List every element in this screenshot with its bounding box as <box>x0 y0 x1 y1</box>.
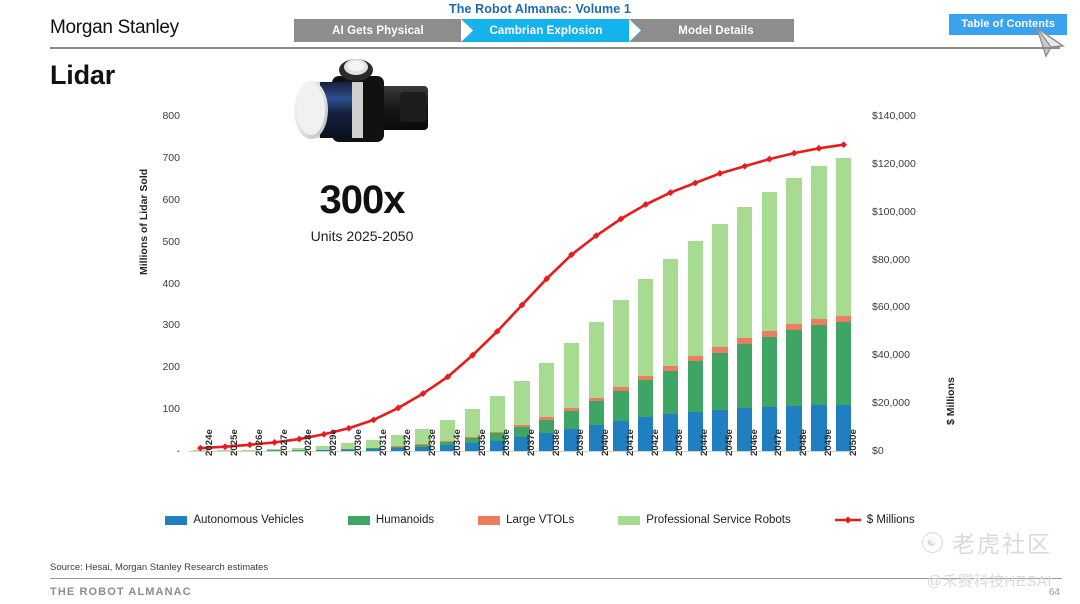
multiple-caption: Units 2025-2050 <box>272 228 452 244</box>
nav-chip-label: AI Gets Physical <box>332 25 424 37</box>
nav-chip-ai-gets-physical[interactable]: AI Gets Physical <box>294 19 462 42</box>
line-marker <box>246 441 253 448</box>
source-note: Source: Hesai, Morgan Stanley Research e… <box>50 562 268 573</box>
x-axis-tick: 2044e <box>699 429 710 456</box>
x-axis-tick: 2046e <box>749 429 760 456</box>
chart-legend: Autonomous VehiclesHumanoidsLarge VTOLsP… <box>0 514 1080 526</box>
x-axis-tick: 2026e <box>254 429 265 456</box>
line-marker <box>271 439 278 446</box>
line-marker <box>741 163 748 170</box>
x-axis-tick: 2027e <box>279 429 290 456</box>
nav-chip-label: Model Details <box>678 25 753 37</box>
line-marker <box>321 431 328 438</box>
line-marker <box>296 436 303 443</box>
y-axis-left-title: Millions of Lidar Sold <box>138 169 150 275</box>
x-axis-tick: 2049e <box>823 429 834 456</box>
legend-label: $ Millions <box>867 514 915 526</box>
y-axis-left-tick: 400 <box>134 278 180 290</box>
legend-label: Humanoids <box>376 514 434 526</box>
y-axis-left-tick: - <box>134 445 180 457</box>
legend-item[interactable]: Autonomous Vehicles <box>165 514 304 526</box>
x-axis-tick: 2029e <box>328 429 339 456</box>
x-axis-tick: 2037e <box>526 429 537 456</box>
pointer-cursor-icon <box>1033 24 1069 58</box>
x-axis-tick: 2032e <box>402 429 413 456</box>
multiple-value: 300x <box>272 180 452 220</box>
x-axis-tick: 2030e <box>353 429 364 456</box>
y-axis-right-tick: $0 <box>872 445 932 457</box>
x-axis-tick: 2048e <box>798 429 809 456</box>
growth-callout: 300x Units 2025-2050 <box>272 58 452 244</box>
footer-brand: THE ROBOT ALMANAC <box>50 586 192 598</box>
nav-chip-model-details[interactable]: Model Details <box>630 19 794 42</box>
x-axis-tick: 2025e <box>229 429 240 456</box>
y-axis-right-tick: $60,000 <box>872 301 932 313</box>
deck-title: The Robot Almanac: Volume 1 <box>0 2 1080 16</box>
footer-divider <box>50 578 1062 579</box>
y-axis-left-tick: 800 <box>134 110 180 122</box>
x-axis-tick: 2034e <box>452 429 463 456</box>
legend-swatch-icon <box>165 516 187 525</box>
line-marker <box>345 425 352 432</box>
line-marker <box>840 141 847 148</box>
x-axis-tick: 2033e <box>427 429 438 456</box>
y-axis-right-title: $ Millions <box>945 377 957 425</box>
line-marker <box>197 445 204 452</box>
y-axis-right-tick: $120,000 <box>872 158 932 170</box>
legend-item[interactable]: Large VTOLs <box>478 514 574 526</box>
x-axis-tick: 2050e <box>848 429 859 456</box>
y-axis-left-tick: 100 <box>134 403 180 415</box>
line-marker <box>692 180 699 187</box>
y-axis-left-tick: 200 <box>134 361 180 373</box>
legend-label: Autonomous Vehicles <box>193 514 304 526</box>
y-axis-right-tick: $100,000 <box>872 206 932 218</box>
legend-item[interactable]: Professional Service Robots <box>618 514 790 526</box>
x-axis-tick: 2035e <box>477 429 488 456</box>
x-axis-tick: 2038e <box>551 429 562 456</box>
y-axis-right-tick: $20,000 <box>872 397 932 409</box>
x-axis-tick: 2045e <box>724 429 735 456</box>
x-axis-tick: 2040e <box>600 429 611 456</box>
y-axis-left-tick: 300 <box>134 319 180 331</box>
x-axis-tick: 2031e <box>378 429 389 456</box>
x-axis-tick: 2039e <box>575 429 586 456</box>
line-marker <box>815 145 822 152</box>
legend-label: Professional Service Robots <box>646 514 790 526</box>
morgan-stanley-logo: Morgan Stanley <box>50 17 179 39</box>
y-axis-left-tick: 700 <box>134 152 180 164</box>
x-axis-tick: 2024e <box>204 429 215 456</box>
page-title: Lidar <box>50 60 115 91</box>
y-axis-right-tick: $140,000 <box>872 110 932 122</box>
y-axis-right-tick: $80,000 <box>872 254 932 266</box>
slide-root: The Robot Almanac: Volume 1 Morgan Stanl… <box>0 0 1080 604</box>
legend-item[interactable]: Humanoids <box>348 514 434 526</box>
legend-line-marker-icon <box>835 515 861 525</box>
x-axis-tick: 2041e <box>625 429 636 456</box>
x-axis-tick: 2043e <box>674 429 685 456</box>
line-marker <box>222 443 229 450</box>
watermark-primary: ☯ 老虎社区 <box>922 525 1052 559</box>
y-axis-left-tick: 500 <box>134 236 180 248</box>
lidar-stacked-bar-chart: Millions of Lidar Sold $ Millions -10020… <box>0 100 1080 500</box>
x-axis-tick: 2042e <box>650 429 661 456</box>
line-marker <box>717 170 724 177</box>
nav-chip-label: Cambrian Explosion <box>490 25 603 37</box>
x-axis-tick: 2036e <box>501 429 512 456</box>
legend-swatch-icon <box>348 516 370 525</box>
line-marker <box>766 156 773 163</box>
nav-chip-cambrian-explosion[interactable]: Cambrian Explosion <box>462 19 630 42</box>
watermark-ring-icon: ☯ <box>922 532 943 553</box>
y-axis-right-tick: $40,000 <box>872 349 932 361</box>
legend-item[interactable]: $ Millions <box>835 514 915 526</box>
watermark-secondary: @禾赛科技HESAI <box>927 570 1052 591</box>
x-axis-tick: 2047e <box>773 429 784 456</box>
legend-swatch-icon <box>618 516 640 525</box>
y-axis-left-tick: 600 <box>134 194 180 206</box>
section-nav: AI Gets Physical Cambrian Explosion Mode… <box>294 19 794 42</box>
x-axis-tick: 2028e <box>303 429 314 456</box>
lidar-sensor-photo <box>280 58 445 163</box>
legend-label: Large VTOLs <box>506 514 574 526</box>
header-divider <box>50 47 1060 49</box>
watermark-primary-text: 老虎社区 <box>952 525 1052 559</box>
legend-swatch-icon <box>478 516 500 525</box>
line-marker <box>791 150 798 157</box>
